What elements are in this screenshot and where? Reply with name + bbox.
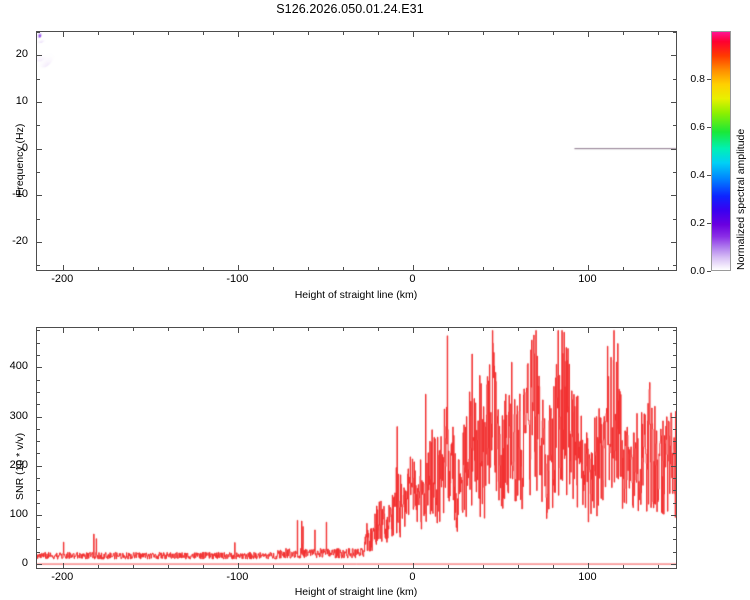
y-tick-right	[671, 564, 676, 565]
y-tick-minor-right	[673, 453, 676, 454]
y-tick-major	[37, 564, 42, 565]
x-tick-minor-top	[378, 32, 379, 35]
y-tick-minor	[37, 392, 40, 393]
x-tick-minor	[273, 565, 274, 568]
x-tick-minor-top	[343, 32, 344, 35]
x-tick-minor	[623, 267, 624, 270]
colorbar-gradient	[711, 31, 731, 271]
x-tick-minor	[343, 565, 344, 568]
x-tick-minor	[658, 267, 659, 270]
x-tick-minor-top	[98, 32, 99, 35]
colorbar-tick-label: 0.8	[690, 73, 705, 85]
y-tick-minor-right	[673, 172, 676, 173]
y-tick-minor	[37, 125, 40, 126]
x-tick-minor-top	[448, 328, 449, 331]
y-tick-major	[37, 242, 42, 243]
y-tick-minor-right	[673, 503, 676, 504]
y-tick-minor	[37, 490, 40, 491]
colorbar-tick	[707, 79, 711, 80]
x-tick-top	[413, 32, 414, 37]
x-tick-label: 100	[578, 273, 596, 285]
x-tick-minor	[658, 565, 659, 568]
colorbar-tick-label: 0.6	[690, 121, 705, 133]
x-tick-top	[63, 328, 64, 333]
x-tick-minor-top	[133, 32, 134, 35]
x-tick-minor	[448, 267, 449, 270]
x-tick-minor-top	[168, 328, 169, 331]
x-tick-top	[238, 328, 239, 333]
y-tick-right	[671, 102, 676, 103]
y-tick-label: 0	[22, 557, 28, 569]
spectrogram-plot-area	[37, 32, 676, 270]
x-tick-major	[413, 563, 414, 568]
x-tick-minor	[518, 267, 519, 270]
y-tick-minor	[37, 265, 40, 266]
colorbar-title: Normalized spectral amplitude	[735, 129, 747, 270]
y-tick-right	[671, 515, 676, 516]
y-tick-minor-right	[673, 527, 676, 528]
y-tick-right	[671, 367, 676, 368]
y-tick-major	[37, 367, 42, 368]
y-tick-minor	[37, 478, 40, 479]
x-tick-minor-top	[623, 32, 624, 35]
y-tick-minor	[37, 32, 40, 33]
x-tick-minor-top	[273, 328, 274, 331]
y-tick-minor	[37, 429, 40, 430]
y-tick-minor	[37, 441, 40, 442]
y-tick-minor	[37, 552, 40, 553]
snr-x-axis-title: Height of straight line (km)	[295, 586, 418, 598]
y-tick-minor	[37, 172, 40, 173]
y-tick-label: 20	[16, 48, 28, 60]
y-tick-minor-right	[673, 404, 676, 405]
x-tick-minor-top	[168, 32, 169, 35]
colorbar-tick	[707, 175, 711, 176]
y-tick-minor	[37, 219, 40, 220]
y-tick-right	[671, 242, 676, 243]
colorbar-tick-label: 0.2	[690, 217, 705, 229]
x-tick-minor	[553, 267, 554, 270]
x-tick-minor-top	[308, 328, 309, 331]
y-tick-minor-right	[673, 330, 676, 331]
y-tick-minor-right	[673, 265, 676, 266]
x-tick-minor-top	[273, 32, 274, 35]
x-tick-label: 0	[409, 571, 415, 583]
snr-line-series	[37, 328, 676, 568]
y-tick-minor-right	[673, 490, 676, 491]
colorbar-tick	[707, 223, 711, 224]
y-tick-minor	[37, 79, 40, 80]
y-tick-minor-right	[673, 539, 676, 540]
colorbar-tick-label: 0.4	[690, 169, 705, 181]
x-tick-minor-top	[343, 328, 344, 331]
x-tick-minor	[273, 267, 274, 270]
snr-plot-area	[37, 328, 676, 568]
x-tick-major	[238, 265, 239, 270]
x-tick-minor	[203, 267, 204, 270]
y-tick-right	[671, 55, 676, 56]
x-tick-top	[588, 328, 589, 333]
colorbar-tick-label: 0.0	[690, 265, 705, 277]
y-tick-right	[671, 149, 676, 150]
y-tick-minor-right	[673, 355, 676, 356]
x-tick-minor-top	[308, 32, 309, 35]
y-tick-label: 10	[16, 95, 28, 107]
figure-canvas: S126.2026.050.01.24.E31 -200-1000100-20-…	[0, 0, 750, 600]
snr-panel	[36, 327, 677, 569]
y-tick-major	[37, 417, 42, 418]
x-tick-minor-top	[483, 32, 484, 35]
x-tick-minor	[203, 565, 204, 568]
x-tick-minor-top	[203, 32, 204, 35]
y-tick-major	[37, 55, 42, 56]
y-tick-major	[37, 515, 42, 516]
x-tick-label: -100	[226, 571, 248, 583]
y-tick-minor-right	[673, 429, 676, 430]
y-tick-minor-right	[673, 125, 676, 126]
y-tick-minor	[37, 453, 40, 454]
y-tick-minor-right	[673, 478, 676, 479]
y-tick-minor-right	[673, 441, 676, 442]
x-tick-minor-top	[448, 32, 449, 35]
x-tick-minor	[308, 267, 309, 270]
x-tick-minor	[378, 565, 379, 568]
y-tick-minor-right	[673, 392, 676, 393]
y-tick-major	[37, 195, 42, 196]
y-tick-minor	[37, 330, 40, 331]
x-tick-minor-top	[133, 328, 134, 331]
y-tick-minor-right	[673, 552, 676, 553]
x-tick-major	[63, 265, 64, 270]
x-tick-major	[63, 563, 64, 568]
y-tick-minor	[37, 380, 40, 381]
x-tick-minor	[98, 267, 99, 270]
x-tick-minor	[483, 565, 484, 568]
x-tick-label: -200	[51, 273, 73, 285]
y-tick-minor	[37, 503, 40, 504]
x-tick-minor	[623, 565, 624, 568]
spectrogram-y-axis-title: Frequency (Hz)	[14, 124, 26, 196]
x-tick-minor	[308, 565, 309, 568]
y-tick-label: 100	[10, 508, 28, 520]
y-tick-minor-right	[673, 380, 676, 381]
x-tick-minor	[378, 267, 379, 270]
y-tick-major	[37, 149, 42, 150]
x-tick-minor-top	[553, 32, 554, 35]
y-tick-minor	[37, 527, 40, 528]
x-tick-minor-top	[553, 328, 554, 331]
x-tick-minor-top	[98, 328, 99, 331]
snr-y-axis-title: SNR (10 * v/v)	[14, 433, 26, 500]
x-tick-minor-top	[518, 32, 519, 35]
x-tick-top	[413, 328, 414, 333]
x-tick-minor-top	[483, 328, 484, 331]
x-tick-minor-top	[623, 328, 624, 331]
x-tick-major	[238, 563, 239, 568]
x-tick-label: 100	[578, 571, 596, 583]
colorbar-tick	[707, 127, 711, 128]
x-tick-major	[588, 563, 589, 568]
y-tick-minor-right	[673, 32, 676, 33]
x-tick-minor	[168, 565, 169, 568]
y-tick-label: 300	[10, 410, 28, 422]
x-tick-minor	[343, 267, 344, 270]
x-tick-label: -100	[226, 273, 248, 285]
y-tick-minor	[37, 355, 40, 356]
y-tick-major	[37, 102, 42, 103]
spectrogram-panel	[36, 31, 677, 271]
x-tick-minor-top	[658, 32, 659, 35]
x-tick-minor	[448, 565, 449, 568]
y-tick-right	[671, 466, 676, 467]
colorbar: 0.00.20.40.60.8	[711, 31, 731, 271]
y-tick-major	[37, 466, 42, 467]
spectrogram-x-axis-title: Height of straight line (km)	[295, 289, 418, 301]
page-title: S126.2026.050.01.24.E31	[0, 2, 700, 16]
x-tick-top	[63, 32, 64, 37]
x-tick-minor	[98, 565, 99, 568]
x-tick-minor	[168, 267, 169, 270]
x-tick-label: 0	[409, 273, 415, 285]
y-tick-minor	[37, 343, 40, 344]
y-tick-label: 400	[10, 360, 28, 372]
x-tick-top	[588, 32, 589, 37]
y-tick-minor-right	[673, 79, 676, 80]
x-tick-top	[238, 32, 239, 37]
x-tick-minor	[518, 565, 519, 568]
x-tick-major	[588, 265, 589, 270]
y-tick-minor	[37, 404, 40, 405]
x-tick-minor	[133, 267, 134, 270]
y-tick-minor-right	[673, 219, 676, 220]
colorbar-tick	[707, 271, 711, 272]
x-tick-minor	[553, 565, 554, 568]
x-tick-minor-top	[658, 328, 659, 331]
x-tick-minor-top	[518, 328, 519, 331]
spectrogram-image	[37, 32, 676, 270]
y-tick-right	[671, 195, 676, 196]
y-tick-label: -20	[12, 235, 28, 247]
x-tick-major	[413, 265, 414, 270]
x-tick-minor-top	[378, 328, 379, 331]
x-tick-label: -200	[51, 571, 73, 583]
x-tick-minor	[133, 565, 134, 568]
y-tick-right	[671, 417, 676, 418]
y-tick-minor	[37, 539, 40, 540]
x-tick-minor	[483, 267, 484, 270]
y-tick-minor-right	[673, 343, 676, 344]
x-tick-minor-top	[203, 328, 204, 331]
